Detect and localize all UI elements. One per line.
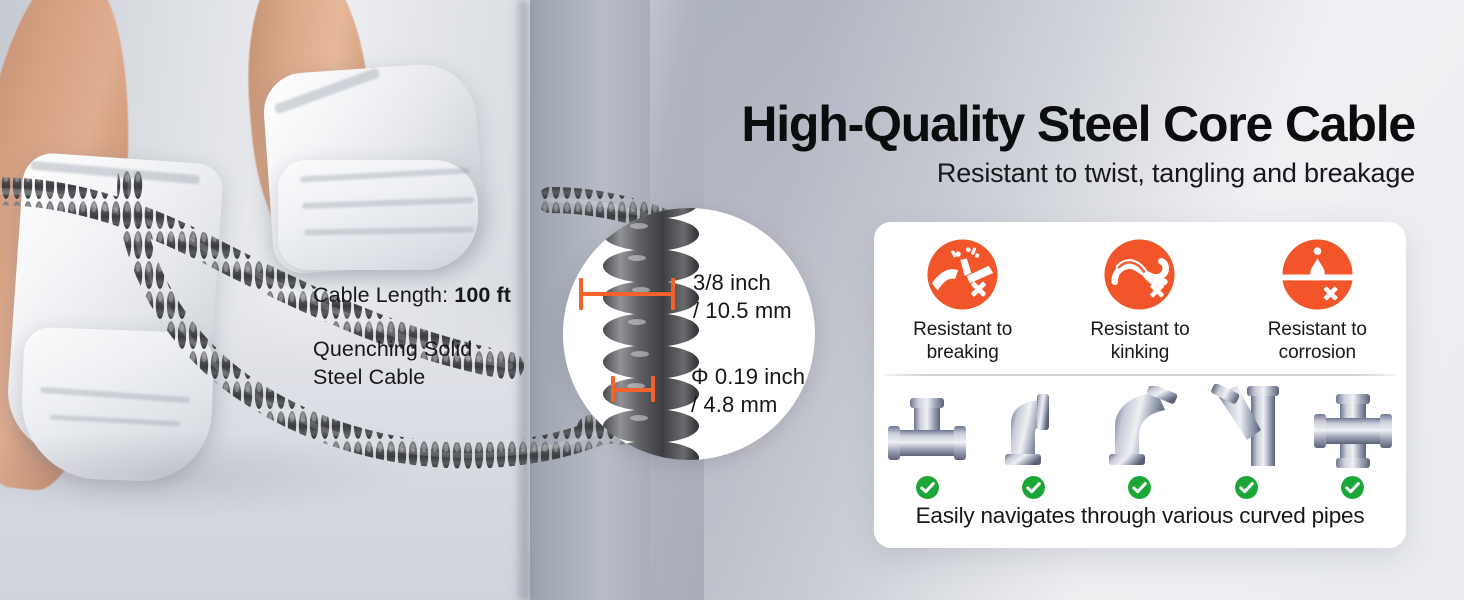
cable-length-label: Cable Length: [313, 283, 454, 307]
cable-length-value: 100 ft [454, 283, 511, 307]
feature-label-line2: kinking [1111, 342, 1169, 363]
feature-label-line2: corrosion [1279, 342, 1356, 363]
outer-diameter-label-line1: 3/8 inch [693, 270, 771, 296]
pipe-fitting-elbow-90 [986, 386, 1082, 500]
cable-length-spec: Cable Length: 100 ft [313, 281, 511, 309]
feature-label: Resistant to kinking [1090, 318, 1189, 364]
pipe-fittings-row [874, 386, 1406, 500]
feature-resistant-to-corrosion: Resistant to corrosion [1242, 238, 1392, 364]
elbow-90-pipe-fitting-icon [993, 388, 1075, 470]
cable-closeup-illustration [593, 208, 713, 460]
page-title: High-Quality Steel Core Cable [655, 95, 1415, 153]
outer-diameter-label-line2: / 10.5 mm [693, 298, 792, 324]
tee-pipe-fitting-icon [886, 394, 968, 470]
feature-label-line1: Resistant to [1268, 319, 1367, 340]
green-check-icon [915, 475, 940, 500]
page-subtitle: Resistant to twist, tangling and breakag… [655, 156, 1415, 190]
water-droplet-corrosion-icon [1281, 238, 1354, 311]
feature-label: Resistant to corrosion [1268, 318, 1367, 364]
pipe-fitting-wye [1198, 386, 1294, 500]
elbow-45-pipe-fitting-icon [1099, 386, 1181, 470]
wire-diameter-label-line1: Φ 0.19 inch [691, 364, 805, 390]
green-check-icon [1234, 475, 1259, 500]
pipe-fitting-cross [1305, 386, 1401, 500]
pipes-caption: Easily navigates through various curved … [874, 503, 1406, 529]
resistance-features-row: Resistant to breaking Resistant to [874, 238, 1406, 364]
wye-pipe-fitting-icon [1203, 384, 1289, 470]
feature-resistant-to-breaking: Resistant to breaking [888, 238, 1038, 364]
feature-label-line2: breaking [927, 342, 999, 363]
green-check-icon [1127, 475, 1152, 500]
pipe-fitting-tee [879, 386, 975, 500]
card-divider [885, 374, 1395, 376]
cross-pipe-fitting-icon [1312, 392, 1394, 470]
wire-diameter-label-line2: / 4.8 mm [691, 392, 777, 418]
features-card: Resistant to breaking Resistant to [874, 222, 1406, 548]
feature-label: Resistant to breaking [913, 318, 1012, 364]
cable-magnifier-circle: 3/8 inch / 10.5 mm Φ 0.19 inch / 4.8 mm [563, 208, 815, 460]
pipe-fitting-elbow-45 [1092, 386, 1188, 500]
feature-label-line1: Resistant to [913, 319, 1012, 340]
green-check-icon [1021, 475, 1046, 500]
cable-material-spec: Quenching Solid Steel Cable [313, 335, 523, 391]
broken-cable-icon [926, 238, 999, 311]
green-check-icon [1340, 475, 1365, 500]
product-feature-banner: Cable Length: 100 ft Quenching Solid Ste… [0, 0, 1464, 600]
feature-label-line1: Resistant to [1090, 319, 1189, 340]
feature-resistant-to-kinking: Resistant to kinking [1065, 238, 1215, 364]
kinked-cable-icon [1103, 238, 1176, 311]
